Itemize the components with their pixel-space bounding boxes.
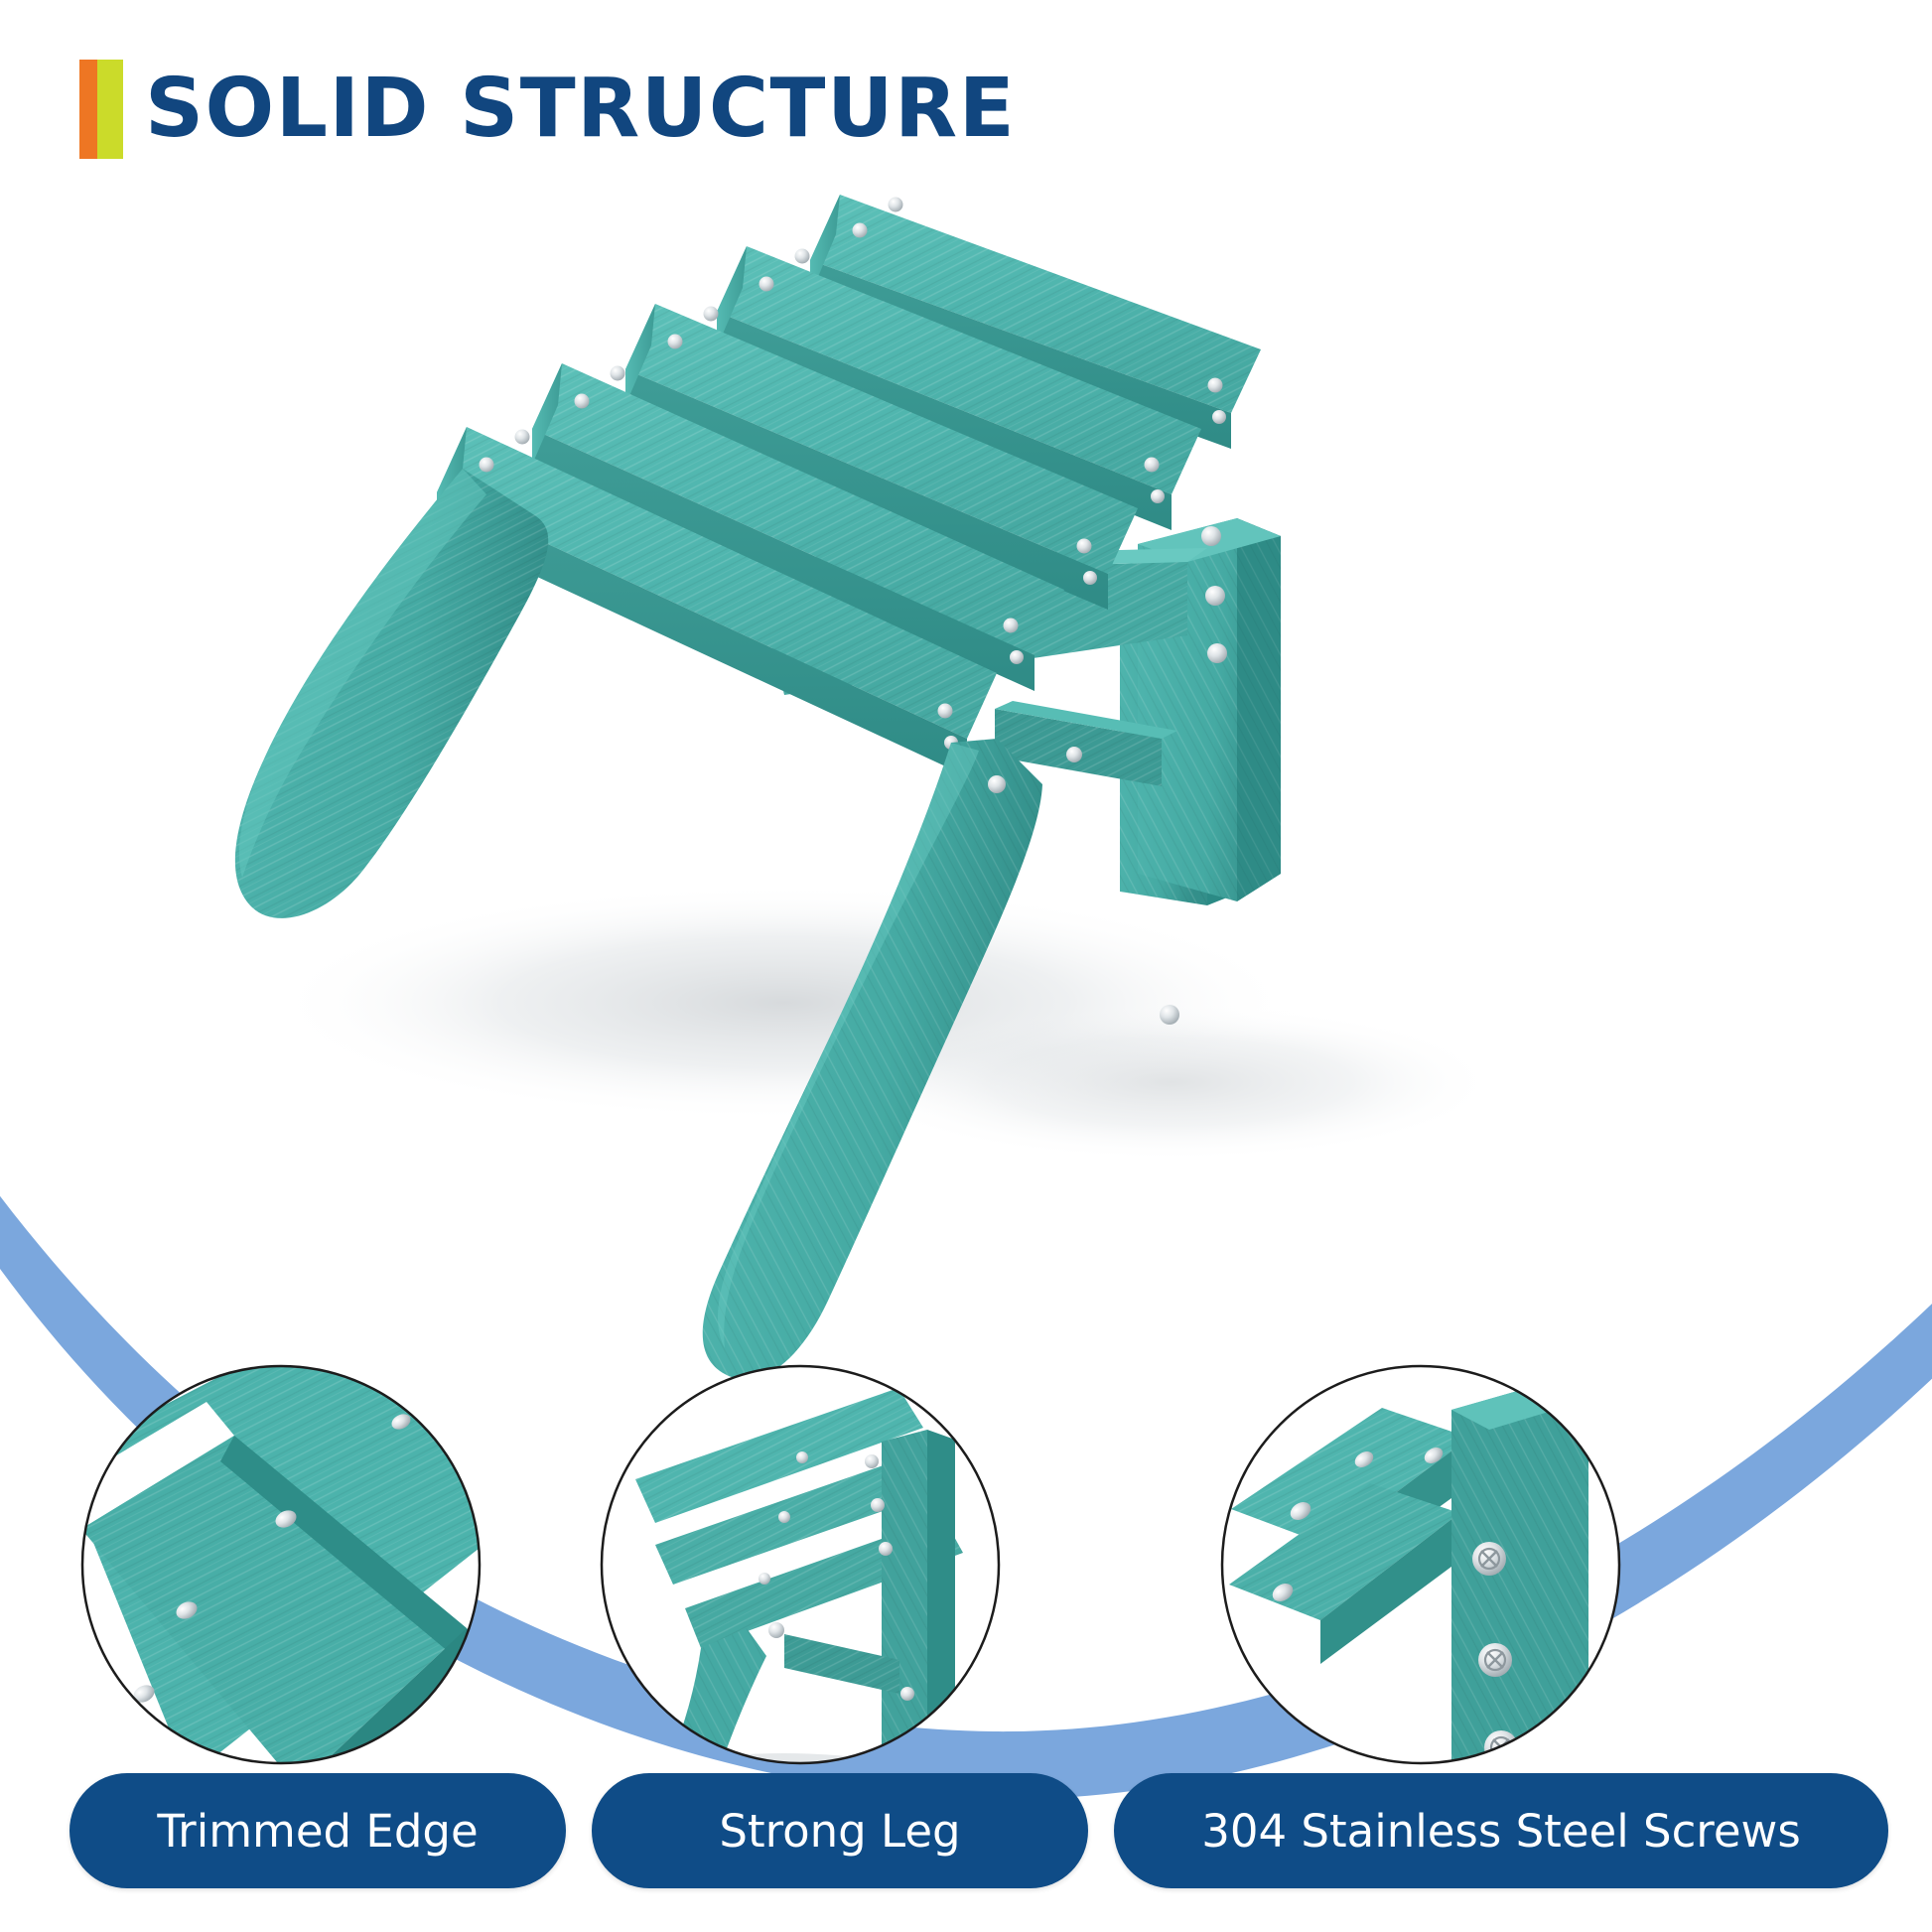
callout-pill-label: Strong Leg: [719, 1805, 960, 1858]
callout-pill-trimmed-edge[interactable]: Trimmed Edge: [69, 1773, 566, 1888]
callout-pill-label: 304 Stainless Steel Screws: [1201, 1805, 1801, 1858]
callout-pill-steel-screws[interactable]: 304 Stainless Steel Screws: [1114, 1773, 1888, 1888]
hero-product-adirondack-ottoman: [235, 195, 1281, 1379]
screw-head: [1478, 1643, 1512, 1677]
left-curved-leg: [235, 469, 548, 918]
callout-pill-strong-leg[interactable]: Strong Leg: [592, 1773, 1088, 1888]
artwork-svg: [0, 0, 1932, 1932]
illustration-stage: [0, 0, 1932, 1932]
screw-head: [1472, 1542, 1506, 1576]
callout-pill-label: Trimmed Edge: [157, 1805, 478, 1858]
